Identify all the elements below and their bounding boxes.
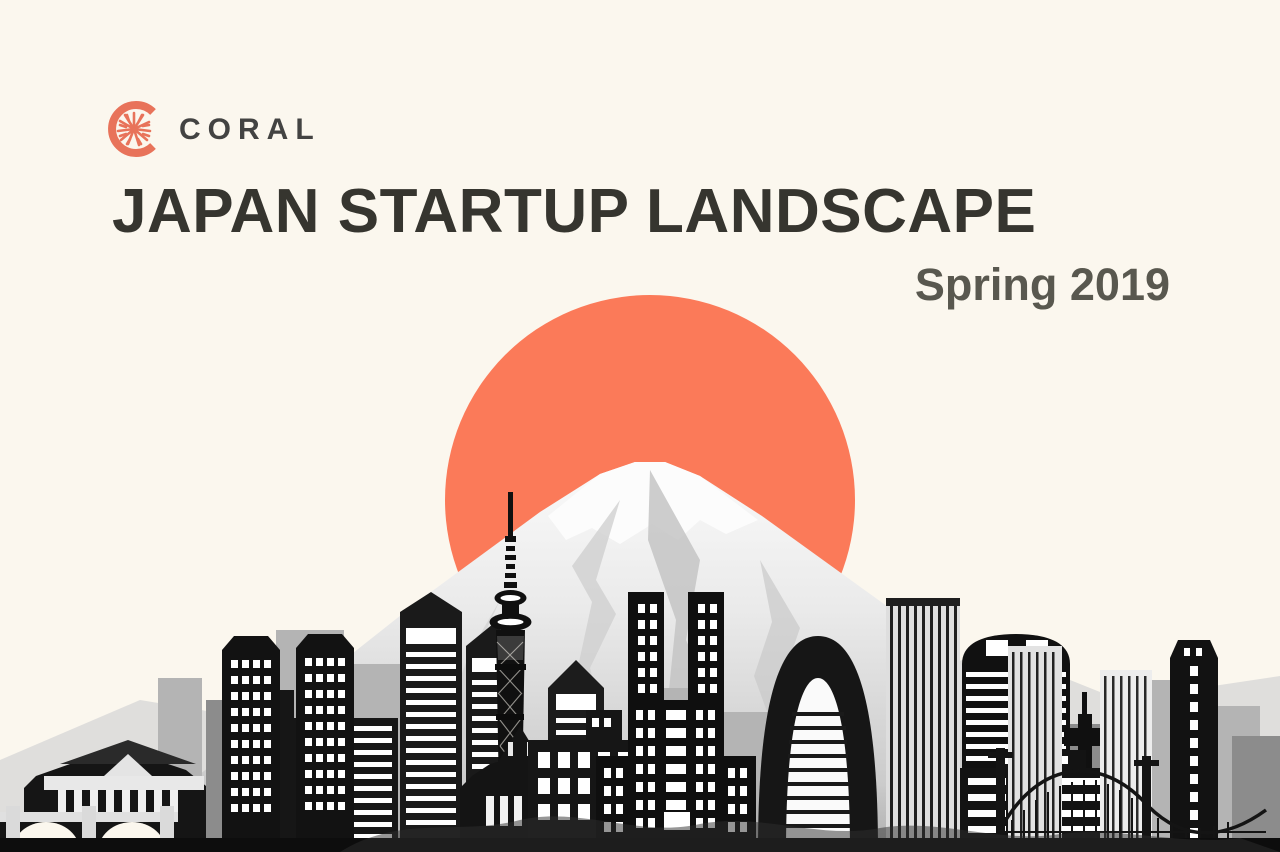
brand-lockup[interactable]: CORAL bbox=[103, 98, 321, 160]
poster-canvas: CORAL JAPAN STARTUP LANDSCAPE Spring 201… bbox=[0, 0, 1280, 852]
coral-logo-mark bbox=[103, 98, 165, 160]
page-subtitle: Spring 2019 bbox=[112, 258, 1170, 312]
page-title: JAPAN STARTUP LANDSCAPE bbox=[112, 181, 1170, 243]
brand-wordmark: CORAL bbox=[179, 113, 321, 145]
